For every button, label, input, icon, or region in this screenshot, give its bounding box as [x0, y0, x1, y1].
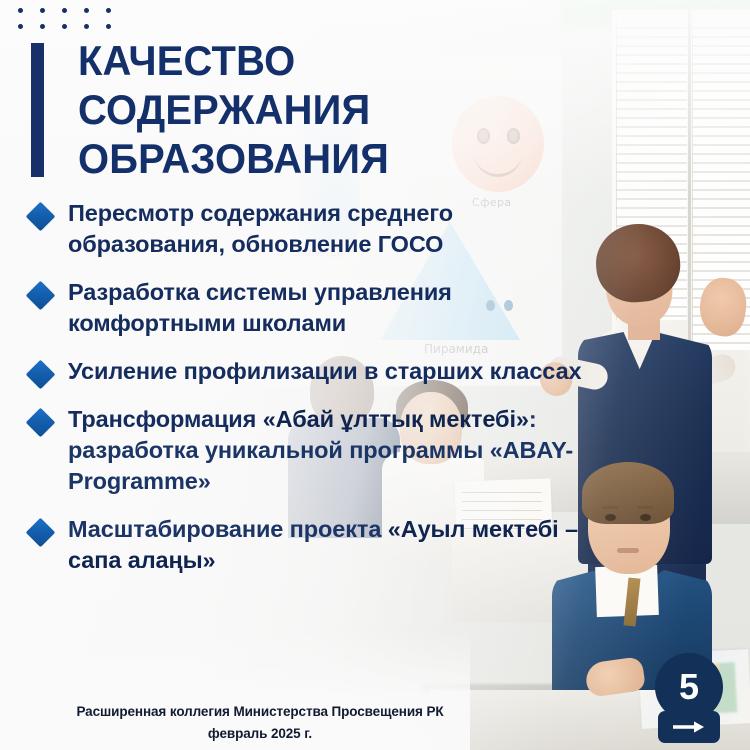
bullet-item: Пересмотр содержания среднего образовани… — [24, 198, 584, 260]
arrow-right-icon — [672, 720, 706, 734]
bullet-text: Разработка системы управления комфортным… — [68, 277, 584, 339]
slide-root: Цилиндр Сфера Пирамида — [0, 0, 750, 750]
bullet-list: Пересмотр содержания среднего образовани… — [24, 198, 584, 593]
dot — [106, 24, 111, 29]
diamond-bullet-icon — [26, 202, 56, 232]
bullet-text-part: Разработка системы управления комфортным… — [68, 279, 452, 336]
diamond-bullet-icon — [26, 360, 56, 390]
bullet-item: Усиление профилизации в старших классах — [24, 356, 584, 387]
bullet-text-part: Трансформация — [68, 406, 263, 432]
bullet-text-part: «Абай ұлттық мектебі» — [263, 406, 529, 432]
bullet-item: Разработка системы управления комфортным… — [24, 277, 584, 339]
dot — [84, 8, 89, 13]
bullet-text-part: Пересмотр содержания среднего образовани… — [68, 200, 453, 257]
bullet-item: Масштабирование проекта «Ауыл мектебі – … — [24, 514, 584, 576]
dot — [106, 8, 111, 13]
slide-content: КАЧЕСТВО СОДЕРЖАНИЯ ОБРАЗОВАНИЯ Пересмот… — [0, 0, 750, 750]
bullet-text: Пересмотр содержания среднего образовани… — [68, 198, 584, 260]
footer-line-2: февраль 2025 г. — [0, 723, 520, 745]
bullet-text-part: Усиление профилизации в старших классах — [68, 358, 582, 384]
diamond-bullet-icon — [26, 281, 56, 311]
dot — [40, 8, 45, 13]
dot — [62, 24, 67, 29]
bullet-text-part: Масштабирование проекта — [68, 516, 388, 542]
bullet-text: Трансформация «Абай ұлттық мектебі»: раз… — [68, 404, 584, 497]
title-accent-bar — [31, 43, 44, 177]
page-title: КАЧЕСТВО СОДЕРЖАНИЯ ОБРАЗОВАНИЯ — [78, 36, 572, 183]
bullet-text: Масштабирование проекта «Ауыл мектебі – … — [68, 514, 584, 576]
footer-caption: Расширенная коллегия Министерства Просве… — [0, 701, 520, 745]
bullet-text: Усиление профилизации в старших классах — [68, 356, 582, 387]
dot — [18, 24, 23, 29]
footer-line-1: Расширенная коллегия Министерства Просве… — [0, 701, 520, 723]
dot — [18, 8, 23, 13]
diamond-bullet-icon — [26, 518, 56, 548]
dot — [62, 8, 67, 13]
next-slide-button[interactable] — [658, 711, 720, 743]
diamond-bullet-icon — [26, 408, 56, 438]
dot — [40, 24, 45, 29]
dot — [84, 24, 89, 29]
bullet-item: Трансформация «Абай ұлттық мектебі»: раз… — [24, 404, 584, 497]
